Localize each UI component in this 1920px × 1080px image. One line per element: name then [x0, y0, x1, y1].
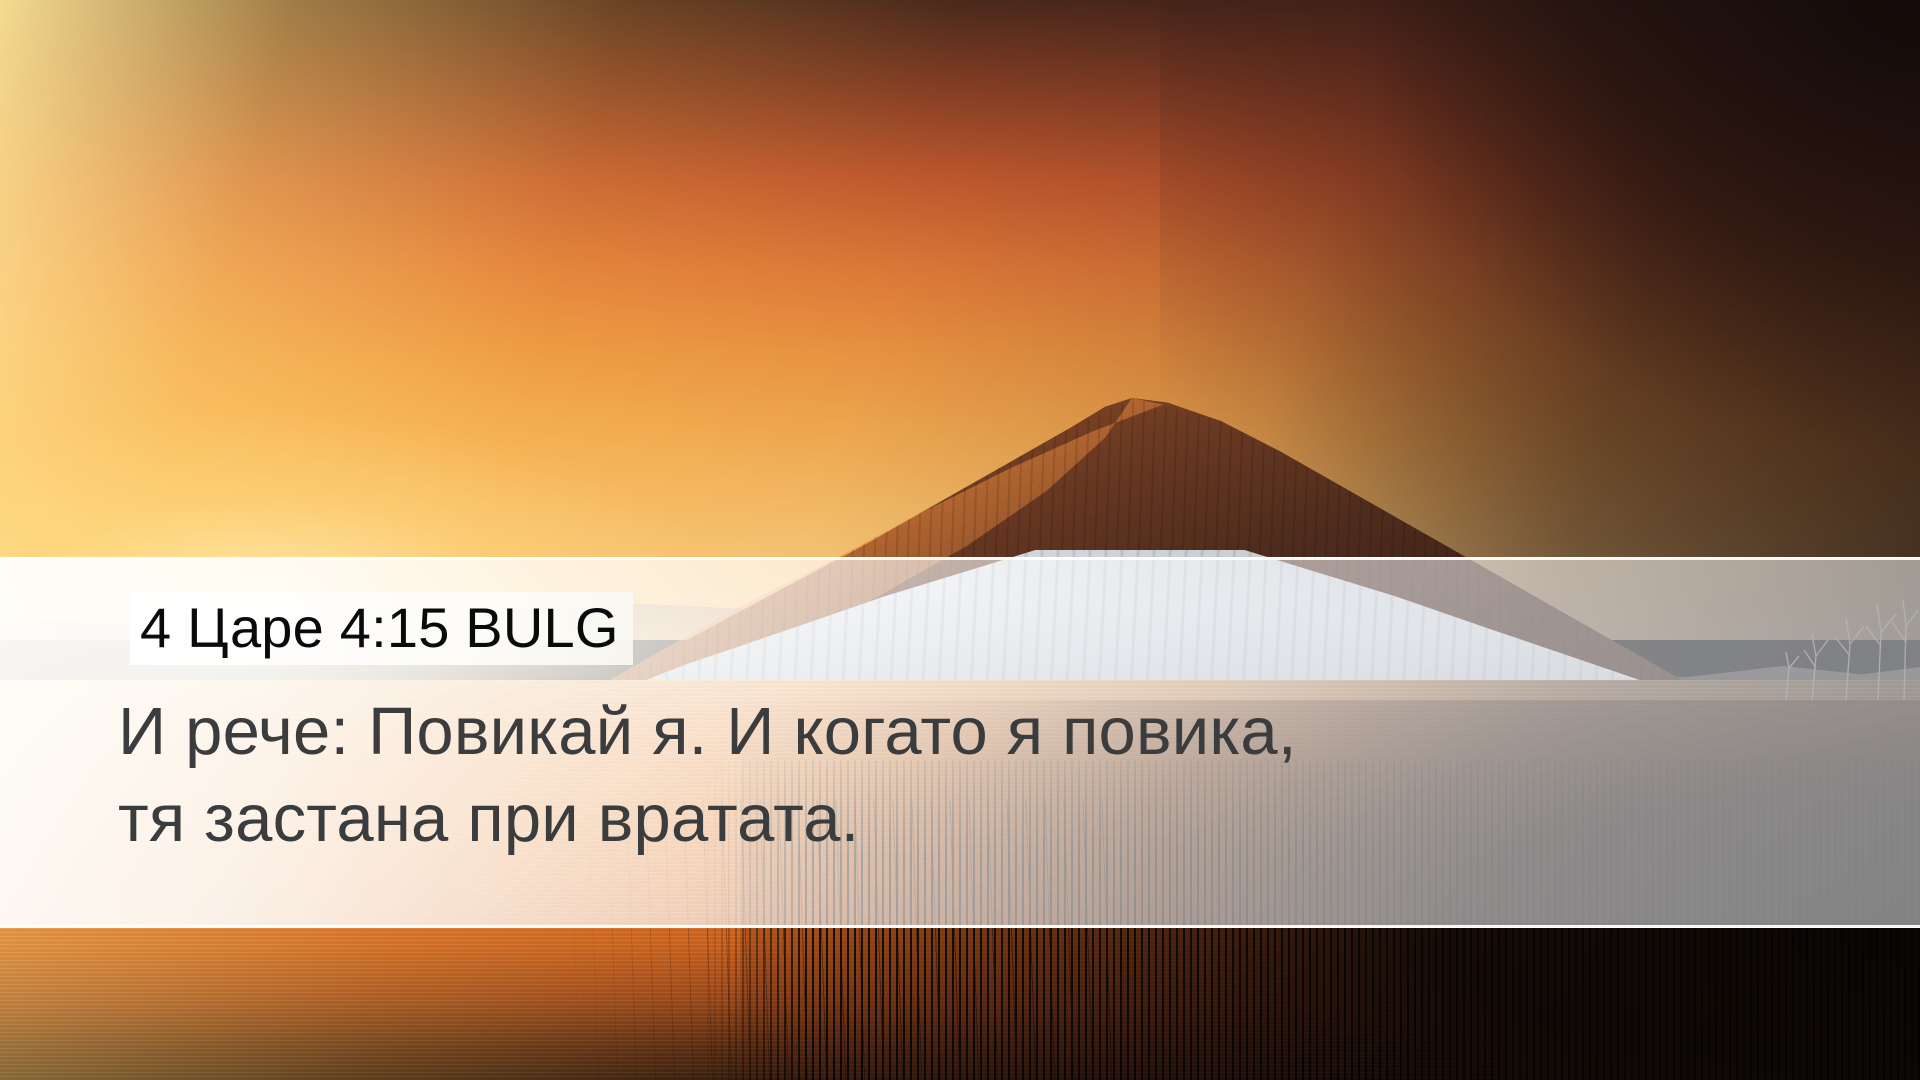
- verse-image-canvas: 4 Царе 4:15 BULG И рече: Повикай я. И ко…: [0, 0, 1920, 1080]
- band-bottom-edge: [0, 925, 1920, 928]
- band-top-edge: [0, 557, 1920, 560]
- verse-body-text: И рече: Повикай я. И когато я повика, тя…: [118, 688, 1297, 862]
- verse-reference: 4 Царе 4:15 BULG: [130, 592, 633, 665]
- verse-reference-text: 4 Царе 4:15 BULG: [140, 596, 619, 659]
- verse-reference-box: 4 Царе 4:15 BULG: [130, 592, 633, 665]
